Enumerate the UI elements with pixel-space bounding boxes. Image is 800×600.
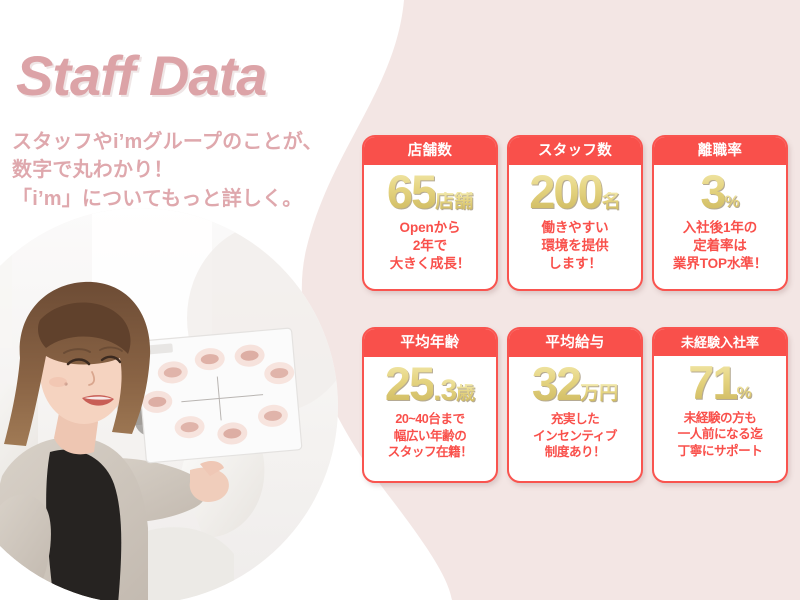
stat-card-header: 未経験入社率 [654,329,786,356]
stat-card-header: 平均年齢 [364,329,496,357]
stat-description: Openから 2年で 大きく成長！ [390,219,470,273]
stat-value: 200 名 [529,168,620,216]
stat-value: 32 万円 [532,360,618,408]
stat-number: 32 [532,360,580,407]
stat-description: 充実した インセンティブ 制度あり！ [533,411,617,461]
stat-card-header: 離職率 [654,137,786,165]
stat-number: 200 [529,168,601,215]
stat-value: 71 % [688,359,751,407]
stat-value: 25 .3 歳 [385,360,475,408]
header-column: Staff Data スタッフやi’mグループのことが、 数字で丸わかり！ 「i… [0,0,400,600]
stat-description: 未経験の方も 一人前になる迄 丁寧にサポート [678,410,763,460]
stat-value: 3 % [700,168,739,216]
stat-card-turnover-rate: 離職率 3 % 入社後1年の 定着率は 業界TOP水準！ [652,135,788,291]
stat-card-body: 200 名 働きやすい 環境を提供 します！ [509,165,641,289]
stat-number: 25 [385,360,433,407]
stat-description: 入社後1年の 定着率は 業界TOP水準！ [673,219,767,273]
stat-unit: 歳 [456,384,475,403]
stat-card-body: 3 % 入社後1年の 定着率は 業界TOP水準！ [654,165,786,289]
stat-unit: 名 [602,192,621,211]
stat-card-header: 店舗数 [364,137,496,165]
stat-unit: 店舗 [435,192,473,211]
stat-card-staff-count: スタッフ数 200 名 働きやすい 環境を提供 します！ [507,135,643,291]
stat-card-body: 25 .3 歳 20~40台まで 幅広い年齢の スタッフ在籍！ [364,357,496,481]
stat-card-body: 71 % 未経験の方も 一人前になる迄 丁寧にサポート [654,356,786,482]
stat-unit: % [725,193,740,210]
stat-description: 働きやすい 環境を提供 します！ [542,219,609,273]
stat-card-body: 32 万円 充実した インセンティブ 制度あり！ [509,357,641,481]
stat-decimal: .3 [433,376,456,406]
stat-card-body: 65 店舗 Openから 2年で 大きく成長！ [364,165,496,289]
staff-data-infographic: Staff Data スタッフやi’mグループのことが、 数字で丸わかり！ 「i… [0,0,800,600]
stat-card-stores: 店舗数 65 店舗 Openから 2年で 大きく成長！ [362,135,498,291]
stat-description: 20~40台まで 幅広い年齢の スタッフ在籍！ [388,411,473,461]
stat-card-inexperienced-hire-rate: 未経験入社率 71 % 未経験の方も 一人前になる迄 丁寧にサポート [652,327,788,483]
stat-card-average-salary: 平均給与 32 万円 充実した インセンティブ 制度あり！ [507,327,643,483]
stat-unit: 万円 [580,384,618,403]
stat-card-header: スタッフ数 [509,137,641,165]
stat-number: 3 [700,168,724,215]
stat-value: 65 店舗 [387,168,473,216]
stat-card-header: 平均給与 [509,329,641,357]
page-subtitle: スタッフやi’mグループのことが、 数字で丸わかり！ 「i’m」についてもっと詳… [12,128,323,213]
stat-number: 65 [387,168,435,215]
stat-number: 71 [688,359,736,406]
stat-unit: % [737,384,752,401]
page-title: Staff Data [16,48,266,104]
stat-card-grid: 店舗数 65 店舗 Openから 2年で 大きく成長！ スタッフ数 200 名 … [362,135,792,483]
stat-card-average-age: 平均年齢 25 .3 歳 20~40台まで 幅広い年齢の スタッフ在籍！ [362,327,498,483]
